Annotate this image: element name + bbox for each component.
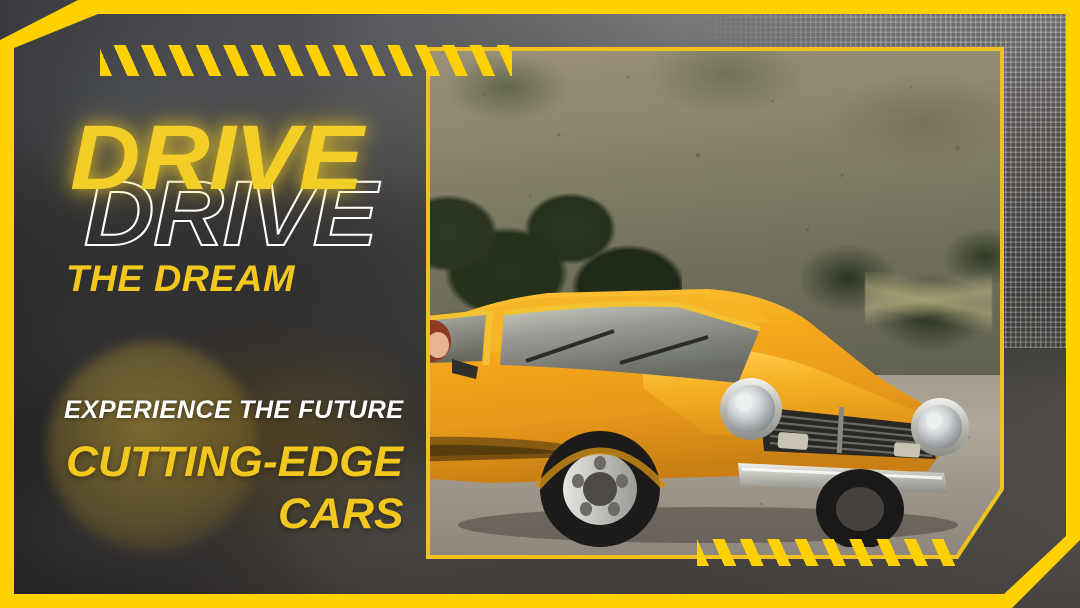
hero-photo-card — [426, 47, 1004, 559]
headline-block: DRIVE DRIVE THE DREAM EXPERIENCE THE FUT… — [0, 0, 430, 608]
hazard-stripes-bottom — [697, 539, 959, 566]
photo-scene — [426, 47, 1004, 559]
drive-solid-text: DRIVE — [70, 112, 363, 204]
hero-photo — [426, 47, 1004, 559]
poster-canvas: DRIVE DRIVE THE DREAM EXPERIENCE THE FUT… — [0, 0, 1080, 608]
subhead-line-2: CARS — [278, 490, 403, 539]
classic-car — [426, 257, 1004, 547]
subhead-kicker: EXPERIENCE THE FUTURE — [64, 396, 403, 425]
subhead-line-1: CUTTING-EDGE — [66, 438, 403, 487]
headline-subtitle: THE DREAM — [66, 258, 295, 300]
